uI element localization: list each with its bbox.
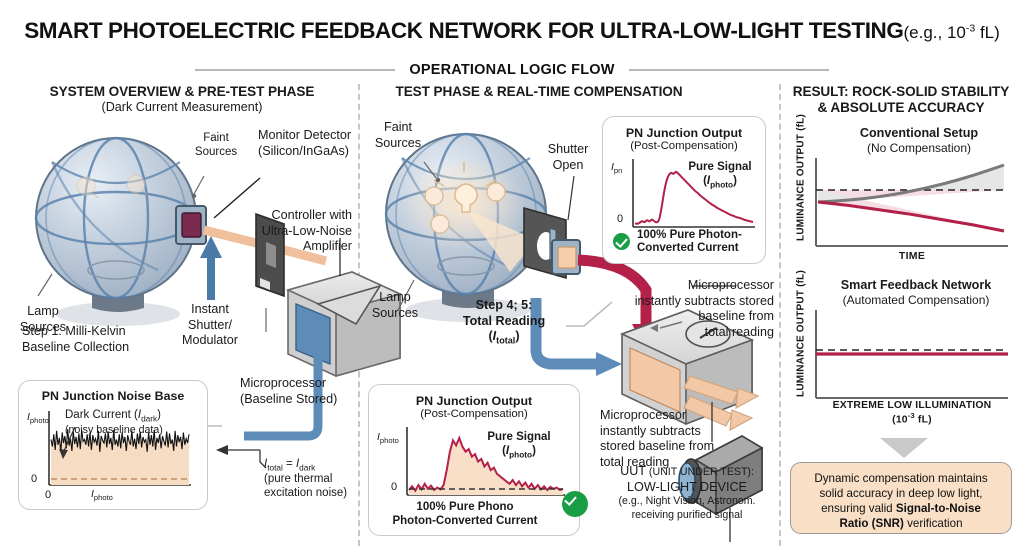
leader-lamp-sources <box>38 274 52 296</box>
integrating-sphere <box>36 138 196 298</box>
detector-port-mid <box>552 240 580 274</box>
check-icon-bottom <box>562 491 588 517</box>
label-step1: Step 1: Milli-KelvinBaseline Collection <box>22 324 172 355</box>
card-pn-output-top: PN Junction Output (Post-Compensation) I… <box>602 116 766 264</box>
label-microprocessor-lower: Microprocessor instantly subtracts store… <box>600 408 730 470</box>
chart-bottom-xlabel: EXTREME LOW ILLUMINATION (10-3 fL) <box>804 400 1020 427</box>
title-main: SMART PHOTOELECTRIC FEEDBACK NETWORK FOR… <box>24 18 903 43</box>
modulation-arrow-up <box>200 236 222 300</box>
mid-panel-heading: TEST PHASE & REAL-TIME COMPENSATION <box>360 84 778 100</box>
chart-conventional-setup: Conventional Setup (No Compensation) LUM… <box>782 124 1020 274</box>
leader-shutter-open <box>568 176 574 220</box>
label-faint-sources-mid: FaintSources <box>366 120 430 151</box>
panel-divider-2 <box>779 84 781 546</box>
chart-smart-feedback: Smart Feedback Network (Automated Compen… <box>782 276 1020 436</box>
right-heading-line1: RESULT: ROCK-SOLID STABILITY <box>782 84 1020 100</box>
label-faint-sources: FaintSources <box>186 132 246 159</box>
card-bottom-footer: 100% Pure PhonoPhoton-Converted Current <box>373 501 557 528</box>
label-microprocessor-left: Microprocessor(Baseline Stored) <box>240 376 360 407</box>
panel-system-overview: SYSTEM OVERVIEW & PRE-TEST PHASE (Dark C… <box>8 84 356 546</box>
card-top-footer: 100% Pure Photon-Converted Current <box>613 229 742 255</box>
label-controller: Controller withUltra-Low-NoiseAmplifier <box>244 208 352 255</box>
label-uut: UUT (UNIT UNDER TEST): LOW-LIGHT DEVICE … <box>596 464 778 522</box>
flow-label: OPERATIONAL LOGIC FLOW <box>409 62 614 78</box>
label-microprocessor-right: Microprocessor instantly subtracts store… <box>606 278 774 340</box>
flow-subtitle-bar: OPERATIONAL LOGIC FLOW <box>0 62 1024 78</box>
label-shutter-open: ShutterOpen <box>532 142 604 173</box>
label-monitor-detector: Monitor Detector(Silicon/InGaAs) <box>258 128 358 159</box>
monitor-detector-port <box>176 206 206 244</box>
chart-top-xlabel: TIME <box>816 250 1008 262</box>
card-pn-junction-noise-base: PN Junction Noise Base Iphoto 0 0 Iphoto… <box>18 380 208 510</box>
flow-rule-left <box>195 69 395 71</box>
noise-plot <box>19 381 209 511</box>
right-heading-line2: & ABSOLUTE ACCURACY <box>782 100 1020 116</box>
note-itotal-idark: Itotal = Idark (pure thermal excitation … <box>264 458 360 500</box>
left-heading-line2: (Dark Current Measurement) <box>8 100 356 115</box>
title-sub: (e.g., 10-3 fL) <box>904 23 1000 42</box>
note-dynamic-compensation: Dynamic compensation maintains solid acc… <box>790 462 1012 534</box>
card-pn-output-bottom: PN Junction Output (Post-Compensation) I… <box>368 384 580 536</box>
check-icon <box>613 233 630 250</box>
panel-test-phase: TEST PHASE & REAL-TIME COMPENSATION <box>360 84 778 546</box>
flow-rule-right <box>629 69 829 71</box>
diagram-page: SMART PHOTOELECTRIC FEEDBACK NETWORK FOR… <box>0 0 1024 559</box>
down-arrow-icon <box>874 436 934 460</box>
baseline-pipe-arrow-mid <box>596 352 622 376</box>
right-panel-heading: RESULT: ROCK-SOLID STABILITY & ABSOLUTE … <box>782 84 1020 116</box>
label-step45: Step 4; 5: Total Reading (Itotal) <box>438 298 570 346</box>
label-lamp-sources-mid: LampSources <box>360 290 430 321</box>
mid-heading-line1: TEST PHASE & REAL-TIME COMPENSATION <box>300 84 778 100</box>
leader-faint-sources <box>194 176 204 194</box>
page-title: SMART PHOTOELECTRIC FEEDBACK NETWORK FOR… <box>0 18 1024 44</box>
label-instant-shutter: InstantShutter/Modulator <box>166 302 254 349</box>
panel-result: RESULT: ROCK-SOLID STABILITY & ABSOLUTE … <box>782 84 1020 546</box>
